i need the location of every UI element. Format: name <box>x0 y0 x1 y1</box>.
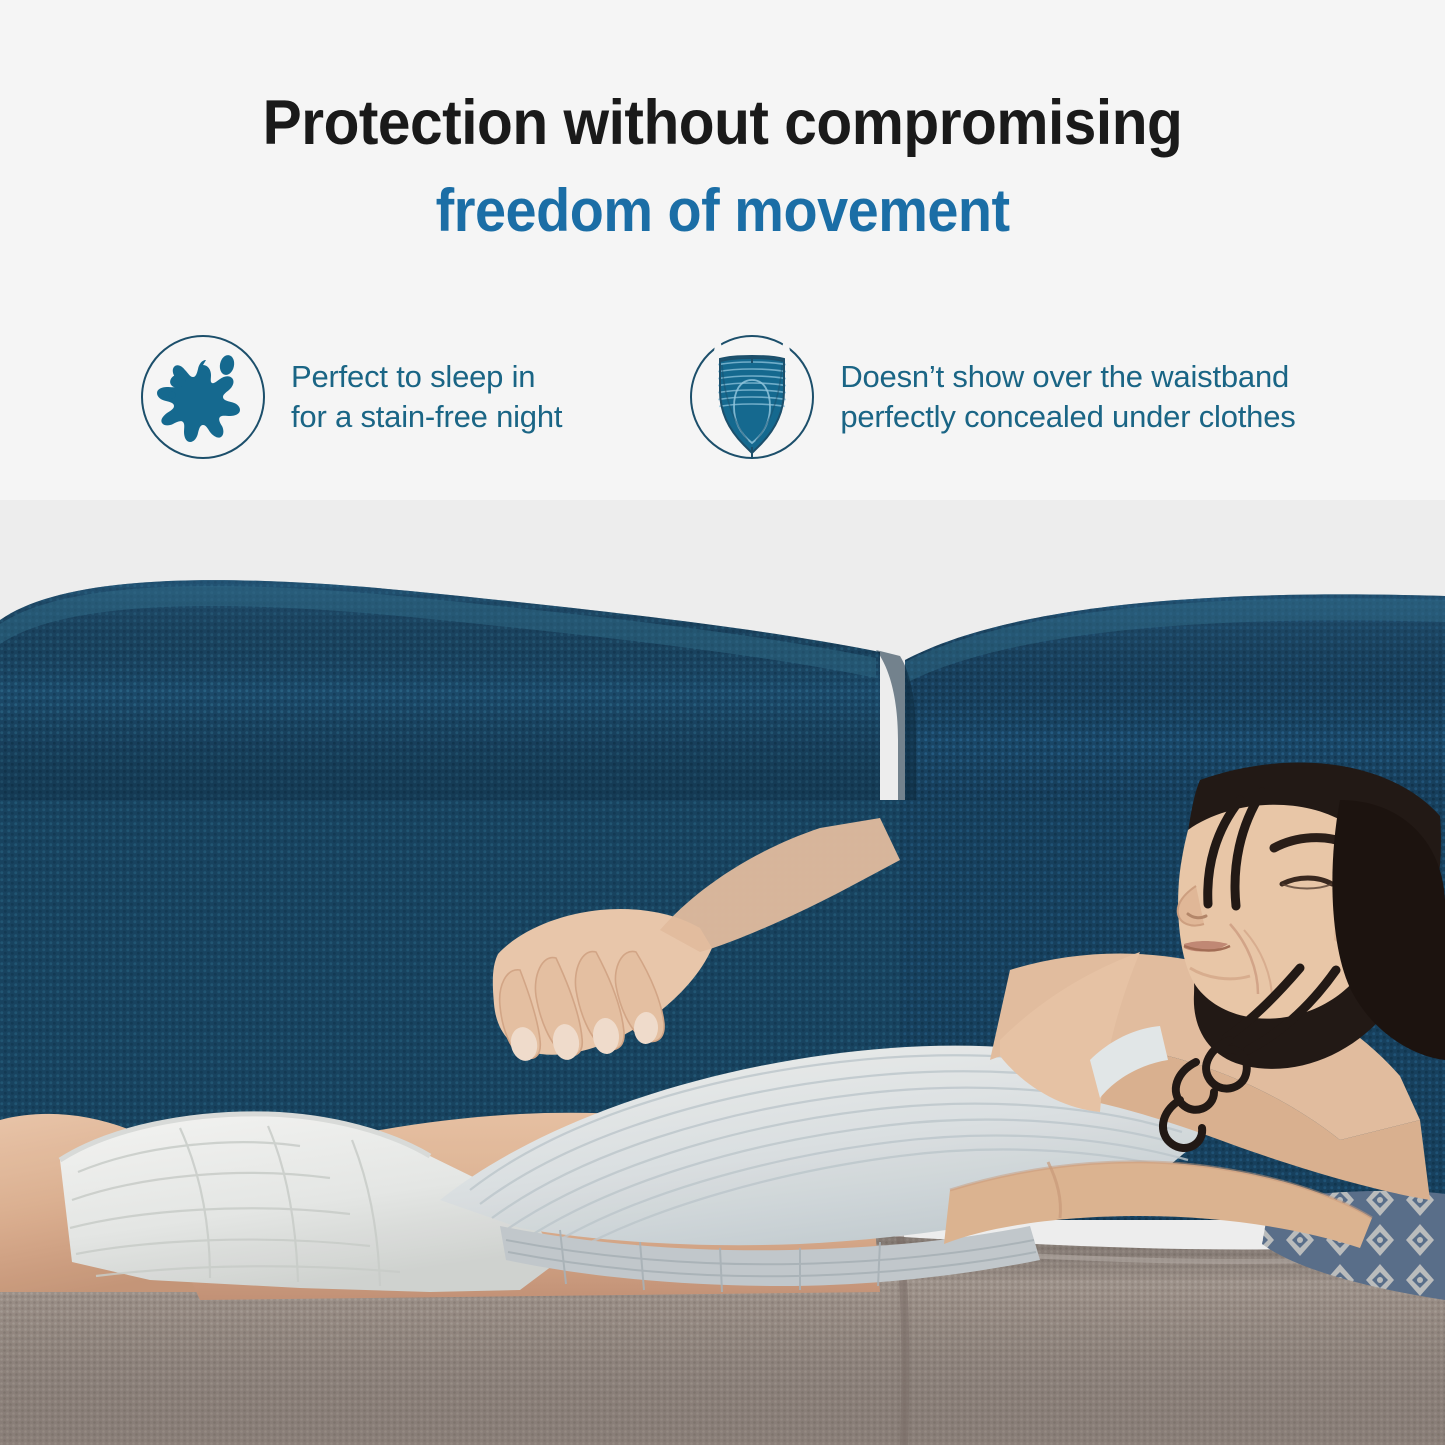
brief-underwear-icon <box>690 335 814 459</box>
stain-splat-icon <box>141 335 265 459</box>
stain-splat-glyph <box>141 335 265 459</box>
header: Protection without compromising freedom … <box>0 0 1445 300</box>
lifestyle-photo <box>0 500 1445 1445</box>
feature-line-2: for a stain-free night <box>291 397 562 437</box>
promo-banner: Protection without compromising freedom … <box>0 0 1445 1445</box>
page-title-line1: Protection without compromising <box>263 92 1183 155</box>
feature-line-1: Perfect to sleep in <box>291 357 562 397</box>
feature-item-concealed: Doesn’t show over the waistband perfectl… <box>690 335 1295 459</box>
feature-line-2: perfectly concealed under clothes <box>840 397 1295 437</box>
feature-list: Perfect to sleep in for a stain-free nig… <box>0 335 1445 485</box>
feature-text-concealed: Doesn’t show over the waistband perfectl… <box>840 357 1295 438</box>
feature-line-1: Doesn’t show over the waistband <box>840 357 1295 397</box>
feature-text-sleep: Perfect to sleep in for a stain-free nig… <box>291 357 562 438</box>
brief-underwear-glyph <box>690 335 814 459</box>
feature-item-sleep: Perfect to sleep in for a stain-free nig… <box>141 335 562 459</box>
page-title-line2: freedom of movement <box>435 181 1009 241</box>
photo-illustration <box>0 500 1445 1445</box>
